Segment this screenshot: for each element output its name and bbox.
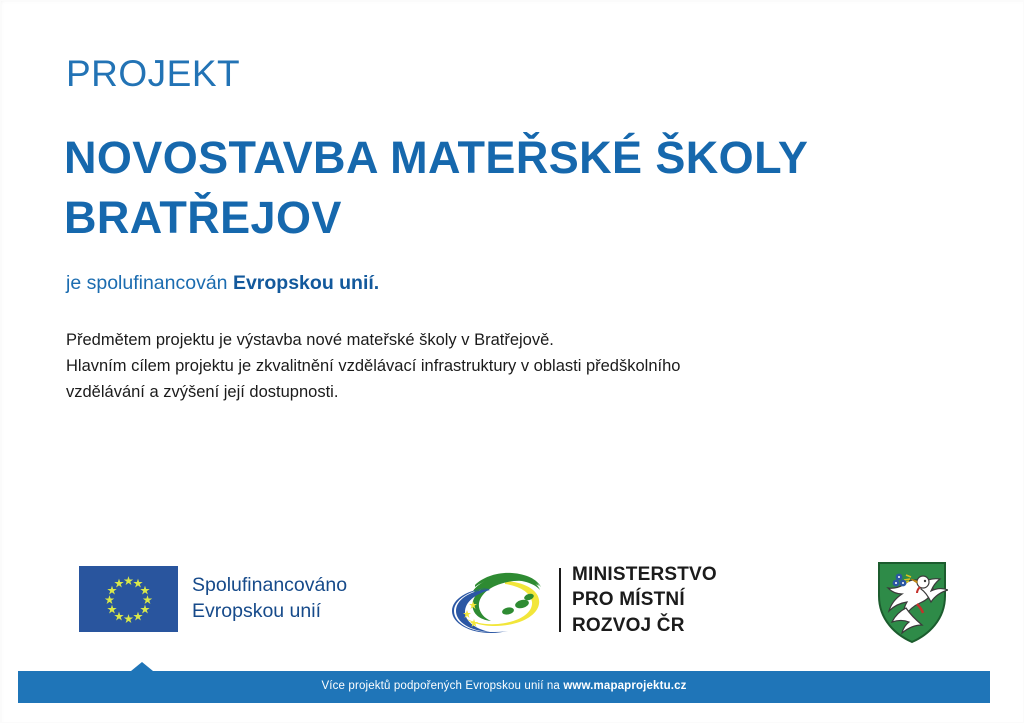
ministry-logo-block: MINISTERSTVO PRO MÍSTNÍ ROZVOJ ČR — [443, 562, 717, 638]
logo-strip: Spolufinancováno Evropskou unií — [0, 550, 1024, 655]
poster-page: PROJEKT NOVOSTAVBA MATEŘSKÉ ŠKOLY BRATŘE… — [0, 0, 1024, 723]
ministry-logo-label-line-2: PRO MÍSTNÍ — [572, 587, 717, 612]
ministry-emblem-icon — [443, 564, 548, 636]
bratrejov-coat-of-arms — [876, 560, 948, 645]
footer-ribbon: Více projektů podpořených Evropskou unií… — [18, 662, 990, 704]
eu-cofunding-logo: Spolufinancováno Evropskou unií — [79, 566, 347, 632]
project-description-line-1: Předmětem projektu je výstavba nové mate… — [66, 327, 896, 353]
project-description-line-3: vzdělávání a zvýšení její dostupnosti. — [66, 379, 896, 405]
funding-statement-prefix: je spolufinancován — [66, 272, 233, 294]
ministry-logo-label-line-1: MINISTERSTVO — [572, 562, 717, 587]
eu-flag-icon — [79, 566, 178, 632]
project-description: Předmětem projektu je výstavba nové mate… — [66, 327, 896, 405]
page-title: NOVOSTAVBA MATEŘSKÉ ŠKOLY BRATŘEJOV — [64, 128, 944, 248]
eu-cofunding-label: Spolufinancováno Evropskou unií — [192, 573, 347, 624]
ministry-logo-label: MINISTERSTVO PRO MÍSTNÍ ROZVOJ ČR — [572, 562, 717, 638]
footer-ribbon-text: Více projektů podpořených Evropskou unií… — [18, 680, 990, 692]
ministry-logo-label-line-3: ROZVOJ ČR — [572, 613, 717, 638]
page-kicker: PROJEKT — [66, 55, 240, 92]
eu-cofunding-label-line-1: Spolufinancováno — [192, 573, 347, 599]
footer-ribbon-prefix: Více projektů podpořených Evropskou unií… — [321, 680, 563, 692]
project-description-line-2: Hlavním cílem projektu je zkvalitnění vz… — [66, 353, 896, 379]
ministry-logo-divider — [559, 568, 561, 632]
eu-cofunding-label-line-2: Evropskou unií — [192, 599, 347, 625]
funding-statement: je spolufinancován Evropskou unií. — [66, 272, 379, 295]
funding-statement-emphasis: Evropskou unií. — [233, 272, 379, 294]
footer-ribbon-url[interactable]: www.mapaprojektu.cz — [563, 680, 686, 692]
